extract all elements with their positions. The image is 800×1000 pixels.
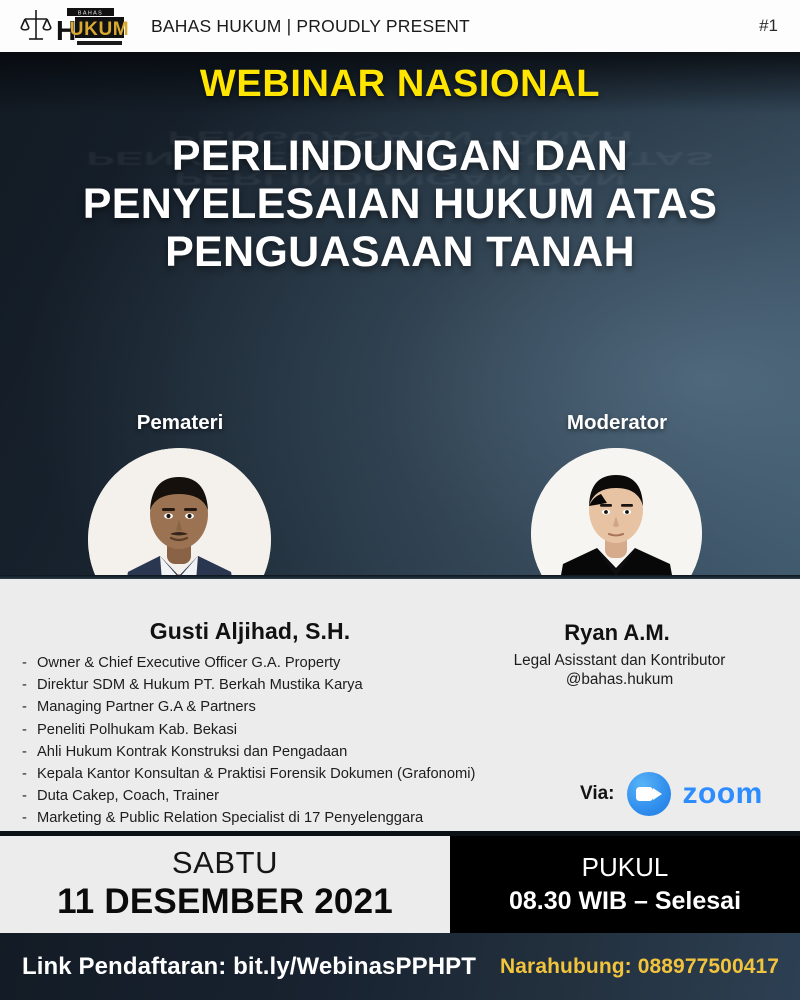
poster-header: BAHAS H UKUM BAHAS HUKUM | PROUDLY PRESE… xyxy=(0,0,800,52)
header-title: BAHAS HUKUM | PROUDLY PRESENT xyxy=(151,16,470,37)
panel-top-divider xyxy=(0,575,800,579)
list-item-label: Kepala Kantor Konsultan & Praktisi Foren… xyxy=(37,763,475,785)
bullet-marker: - xyxy=(22,741,37,763)
list-item: - Marketing & Public Relation Specialist… xyxy=(22,807,562,829)
bullet-marker: - xyxy=(22,785,37,807)
scales-of-justice-icon xyxy=(21,10,51,39)
list-item-label: Ahli Hukum Kontrak Konstruksi dan Pengad… xyxy=(37,741,347,763)
moderator-role-label: Moderator xyxy=(497,411,737,435)
bullet-marker: - xyxy=(22,652,37,674)
moderator-handle: @bahas.hukum xyxy=(477,671,762,689)
contact-number[interactable]: Narahubung: 088977500417 xyxy=(500,955,779,979)
date-box: SABTU 11 DESEMBER 2021 xyxy=(0,836,450,933)
moderator-role: Legal Asisstant dan Kontributor xyxy=(477,650,762,672)
event-title-line-2: PENYELESAIAN HUKUM ATAS xyxy=(28,180,772,228)
event-kicker: WEBINAR NASIONAL xyxy=(0,63,800,106)
list-item: - Kepala Kantor Konsultan & Praktisi For… xyxy=(22,763,562,785)
time-box: PUKUL 08.30 WIB – Selesai xyxy=(450,836,800,933)
issue-number: #1 xyxy=(759,16,778,36)
zoom-camera-icon xyxy=(627,772,671,816)
event-title-line-1: PERLINDUNGAN DAN xyxy=(28,132,772,180)
platform-block: Via: zoom xyxy=(580,772,763,816)
event-day: SABTU xyxy=(172,847,278,880)
list-item-label: Owner & Chief Executive Officer G.A. Pro… xyxy=(37,652,340,674)
bullet-marker: - xyxy=(22,674,37,696)
speaker-role-label: Pemateri xyxy=(60,411,300,435)
zoom-wordmark: zoom xyxy=(683,777,763,811)
webinar-poster: BAHAS H UKUM BAHAS HUKUM | PROUDLY PRESE… xyxy=(0,0,800,1000)
event-date: 11 DESEMBER 2021 xyxy=(57,881,393,922)
camera-lens-shape xyxy=(653,788,662,800)
logo-bahas-text: BAHAS xyxy=(78,11,103,17)
time-label: PUKUL xyxy=(582,853,669,882)
event-title-line-3: PENGUASAAN TANAH xyxy=(28,228,772,276)
bullet-marker: - xyxy=(22,719,37,741)
list-item-label: Direktur SDM & Hukum PT. Berkah Mustika … xyxy=(37,674,363,696)
poster-footer: Link Pendaftaran: bit.ly/WebinasPPHPT Na… xyxy=(0,933,800,1000)
moderator-name: Ryan A.M. xyxy=(497,620,737,646)
via-label: Via: xyxy=(580,783,615,805)
registration-link[interactable]: Link Pendaftaran: bit.ly/WebinasPPHPT xyxy=(22,953,476,981)
list-item: - Managing Partner G.A & Partners xyxy=(22,696,562,718)
speaker-name: Gusti Aljihad, S.H. xyxy=(10,618,490,645)
list-item-label: Peneliti Polhukam Kab. Bekasi xyxy=(37,719,237,741)
logo-ukum-text: UKUM xyxy=(70,19,129,40)
list-item: - Peneliti Polhukam Kab. Bekasi xyxy=(22,719,562,741)
bullet-marker: - xyxy=(22,763,37,785)
bahas-hukum-logo: BAHAS H UKUM xyxy=(18,4,133,48)
list-item: - Duta Cakep, Coach, Trainer xyxy=(22,785,562,807)
list-item: - Ahli Hukum Kontrak Konstruksi dan Peng… xyxy=(22,741,562,763)
event-title: PERLINDUNGAN DAN PENYELESAIAN HUKUM ATAS… xyxy=(28,132,772,276)
event-time: 08.30 WIB – Selesai xyxy=(509,887,741,916)
list-item-label: Duta Cakep, Coach, Trainer xyxy=(37,785,219,807)
list-item-label: Managing Partner G.A & Partners xyxy=(37,696,256,718)
bullet-marker: - xyxy=(22,696,37,718)
logo-base-bar xyxy=(77,41,122,45)
list-item-label: Marketing & Public Relation Specialist d… xyxy=(37,807,423,829)
camera-body-shape xyxy=(636,787,653,801)
logo-artwork: BAHAS H UKUM xyxy=(18,4,133,48)
bullet-marker: - xyxy=(22,807,37,829)
